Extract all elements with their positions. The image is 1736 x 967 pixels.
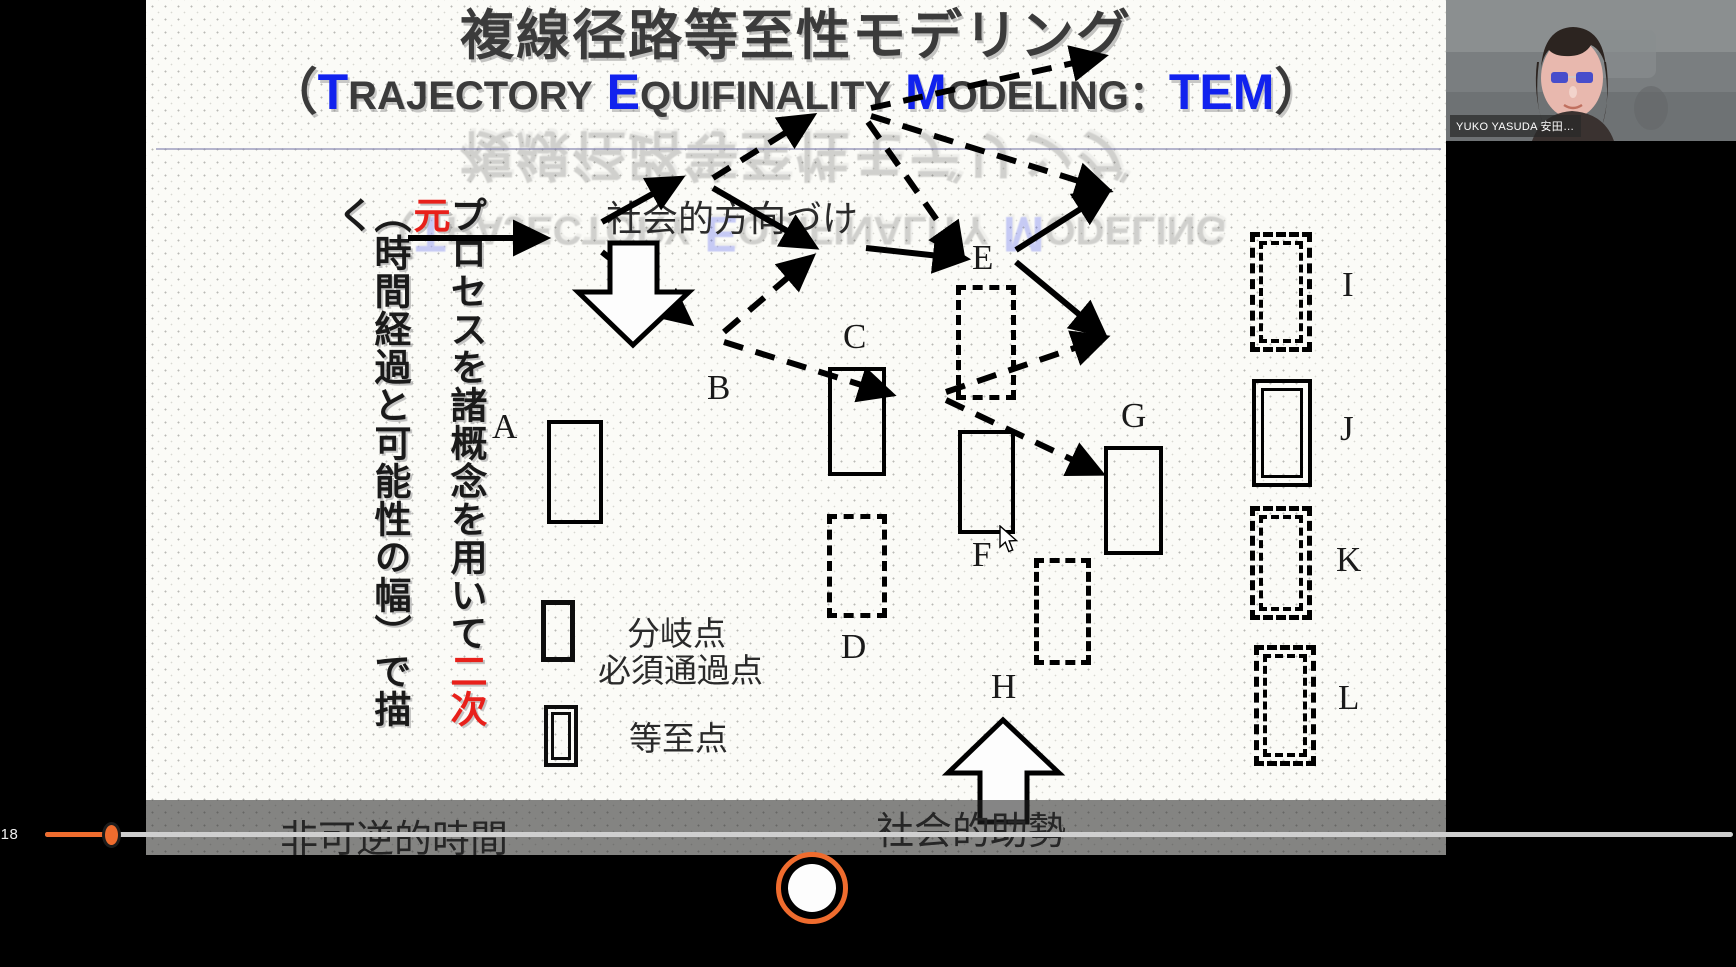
node-label-e: E (972, 238, 993, 278)
play-button-face[interactable] (788, 864, 836, 912)
screen-root: 複線径路等至性モデリング （TRAJECTORY EQUIFINALITY MO… (0, 0, 1736, 967)
node-box-i[interactable] (1250, 232, 1312, 352)
scrubber-handle[interactable] (102, 822, 121, 848)
edge-f-to-g (866, 248, 958, 258)
legend-label-equifinality: 等至点 (629, 712, 728, 760)
edge-c-to-e (713, 120, 806, 178)
node-label-f: F (972, 535, 991, 575)
node-box-d[interactable] (827, 514, 887, 618)
node-box-k[interactable] (1250, 506, 1312, 620)
node-box-c[interactable] (828, 367, 886, 476)
current-time-label: :18 (0, 826, 18, 843)
node-label-g: G (1121, 396, 1146, 436)
double-rect-icon (544, 705, 578, 767)
node-box-h[interactable] (1034, 558, 1091, 665)
participant-name-label: YUKO YASUDA 安田… (1450, 115, 1581, 137)
diagram-connector-layer (146, 0, 1446, 888)
edge-d-to-f (724, 262, 806, 332)
node-box-g[interactable] (1104, 446, 1163, 555)
node-box-j[interactable] (1252, 379, 1312, 487)
letterbox-left (0, 0, 146, 812)
social-direction-arrow-icon (566, 240, 701, 350)
node-box-l[interactable] (1254, 645, 1316, 766)
edge-b-to-c (602, 182, 674, 222)
video-scrubber[interactable]: :18 (0, 812, 1736, 852)
node-label-c: C (843, 317, 866, 357)
node-box-e[interactable] (956, 285, 1016, 400)
mouse-cursor-icon (999, 525, 1021, 555)
tem-diagram: A B C D E F G H I J K L 分岐点 (146, 0, 1446, 888)
presentation-slide[interactable]: 複線径路等至性モデリング （TRAJECTORY EQUIFINALITY MO… (146, 0, 1446, 888)
edge-g-to-j (1016, 196, 1101, 250)
edge-e-to-i (871, 58, 1096, 108)
node-label-j: J (1340, 409, 1354, 449)
node-label-d: D (841, 627, 866, 667)
participant-video-tile[interactable]: YUKO YASUDA 安田… (1446, 0, 1736, 141)
letterbox-right (1446, 141, 1736, 812)
node-label-l: L (1338, 678, 1359, 718)
letterbox-bottom (0, 855, 1736, 967)
node-box-b[interactable] (547, 420, 603, 524)
legend-item-equifinality: 等至点 (544, 705, 728, 767)
node-label-k: K (1336, 540, 1361, 580)
node-label-h: H (991, 667, 1016, 707)
node-label-i: I (1342, 265, 1354, 305)
node-box-f[interactable] (958, 430, 1015, 534)
edge-c-to-f (713, 188, 808, 243)
node-label-b: B (707, 368, 730, 408)
legend-item-obligatory: 必須通過点 (598, 644, 763, 692)
edge-g-to-k (1016, 262, 1098, 330)
node-label-a: A (492, 407, 517, 447)
single-rect-icon (541, 600, 575, 662)
legend-label-obligatory: 必須通過点 (598, 644, 763, 692)
scrubber-track[interactable] (45, 832, 1733, 837)
